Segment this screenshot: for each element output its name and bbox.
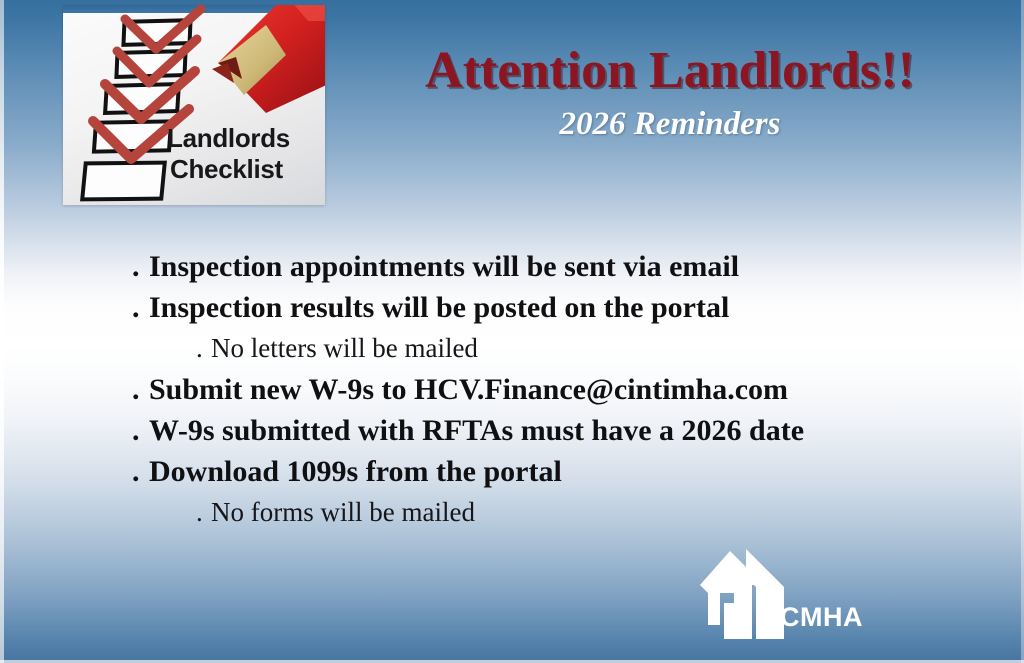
landlords-checklist-image: Landlords Checklist bbox=[63, 5, 325, 205]
list-item: . W-9s submitted with RFTAs must have a … bbox=[132, 410, 962, 451]
list-item-label: Inspection appointments will be sent via… bbox=[149, 246, 739, 287]
checklist-caption: Landlords Checklist bbox=[167, 123, 325, 184]
list-item: . Download 1099s from the portal bbox=[132, 451, 962, 492]
checklist-caption-line1: Landlords bbox=[167, 123, 325, 154]
list-item-label: No letters will be mailed bbox=[211, 328, 478, 369]
cmha-logo: CMHA bbox=[700, 547, 875, 642]
bullet-dot-icon: . bbox=[132, 451, 149, 492]
list-item: . Inspection results will be posted on t… bbox=[132, 287, 962, 328]
checklist-caption-line2: Checklist bbox=[170, 154, 325, 185]
list-item: . Submit new W-9s to HCV.Finance@cintimh… bbox=[132, 369, 962, 410]
list-item-label: Submit new W-9s to HCV.Finance@cintimha.… bbox=[149, 369, 788, 410]
bullet-dot-icon: . bbox=[132, 410, 149, 451]
bullet-dot-icon: . bbox=[132, 369, 149, 410]
list-item-label: W-9s submitted with RFTAs must have a 20… bbox=[149, 410, 804, 451]
list-item-label: Inspection results will be posted on the… bbox=[149, 287, 729, 328]
cmha-logo-text: CMHA bbox=[780, 602, 863, 633]
page-title: Attention Landlords!! bbox=[340, 45, 1000, 97]
bullet-dot-icon: . bbox=[196, 492, 211, 533]
list-item-label: No forms will be mailed bbox=[211, 492, 475, 533]
bullet-dot-icon: . bbox=[196, 328, 211, 369]
bullet-dot-icon: . bbox=[132, 287, 149, 328]
list-item-sub: . No letters will be mailed bbox=[196, 328, 962, 369]
bullet-dot-icon: . bbox=[132, 246, 149, 287]
red-pencil-icon bbox=[158, 5, 325, 126]
list-item: . Inspection appointments will be sent v… bbox=[132, 246, 962, 287]
cmha-house-icon bbox=[700, 547, 790, 639]
slide-left-edge bbox=[0, 0, 4, 663]
page-subtitle: 2026 Reminders bbox=[340, 108, 1000, 141]
list-item-sub: . No forms will be mailed bbox=[196, 492, 962, 533]
list-item-label: Download 1099s from the portal bbox=[149, 451, 562, 492]
reminders-list: . Inspection appointments will be sent v… bbox=[132, 246, 962, 533]
slide-canvas: Landlords Checklist Attention Landlords!… bbox=[0, 0, 1024, 663]
